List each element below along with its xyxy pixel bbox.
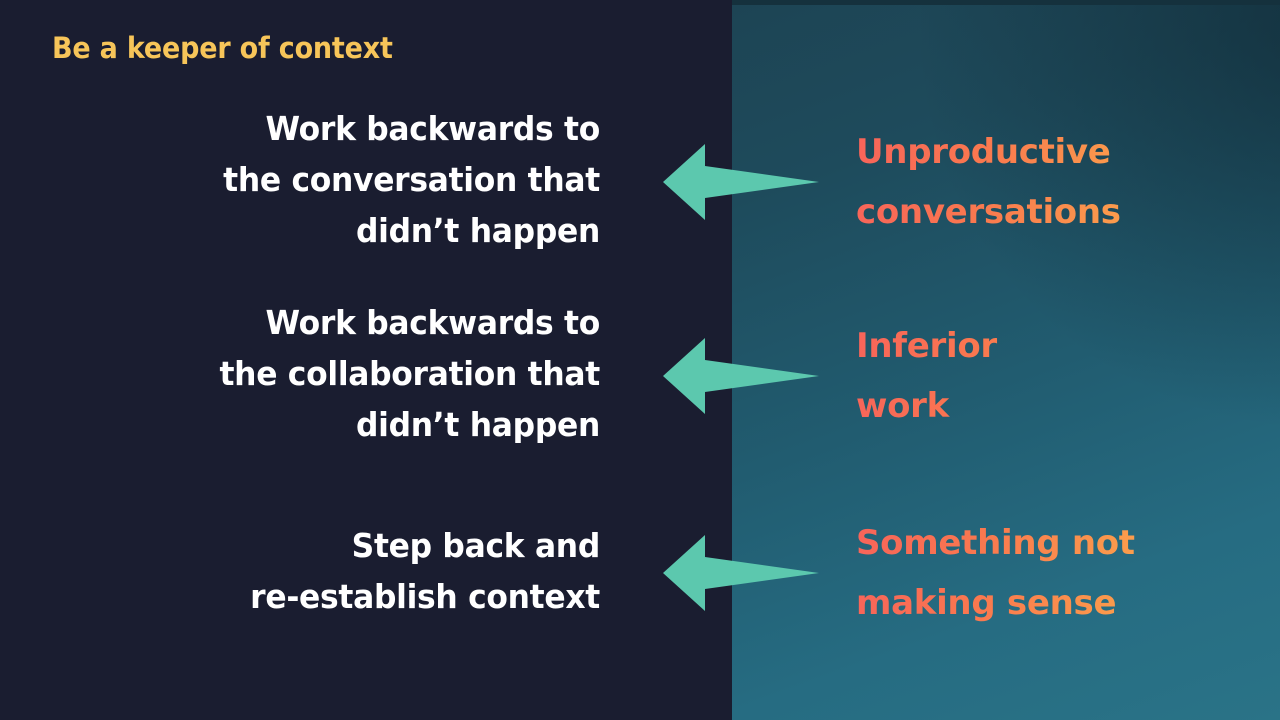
slide-canvas: Be a keeper of context Work backwards to… bbox=[0, 0, 1280, 720]
statement-text-2: Work backwards to the collaboration that… bbox=[106, 297, 600, 450]
statement-text-1: Work backwards to the conversation that … bbox=[106, 103, 600, 256]
left-arrow-icon-1 bbox=[661, 144, 821, 220]
trigger-text-2: Inferior work bbox=[856, 316, 1276, 436]
statement-text-3: Step back and re-establish context bbox=[106, 520, 600, 622]
page-title: Be a keeper of context bbox=[52, 31, 393, 65]
left-arrow-icon-2 bbox=[661, 338, 821, 414]
right-panel-top-shade bbox=[732, 0, 1280, 5]
trigger-text-1: Unproductive conversations bbox=[856, 122, 1276, 242]
trigger-text-3: Something not making sense bbox=[856, 513, 1276, 633]
left-arrow-icon-3 bbox=[661, 535, 821, 611]
